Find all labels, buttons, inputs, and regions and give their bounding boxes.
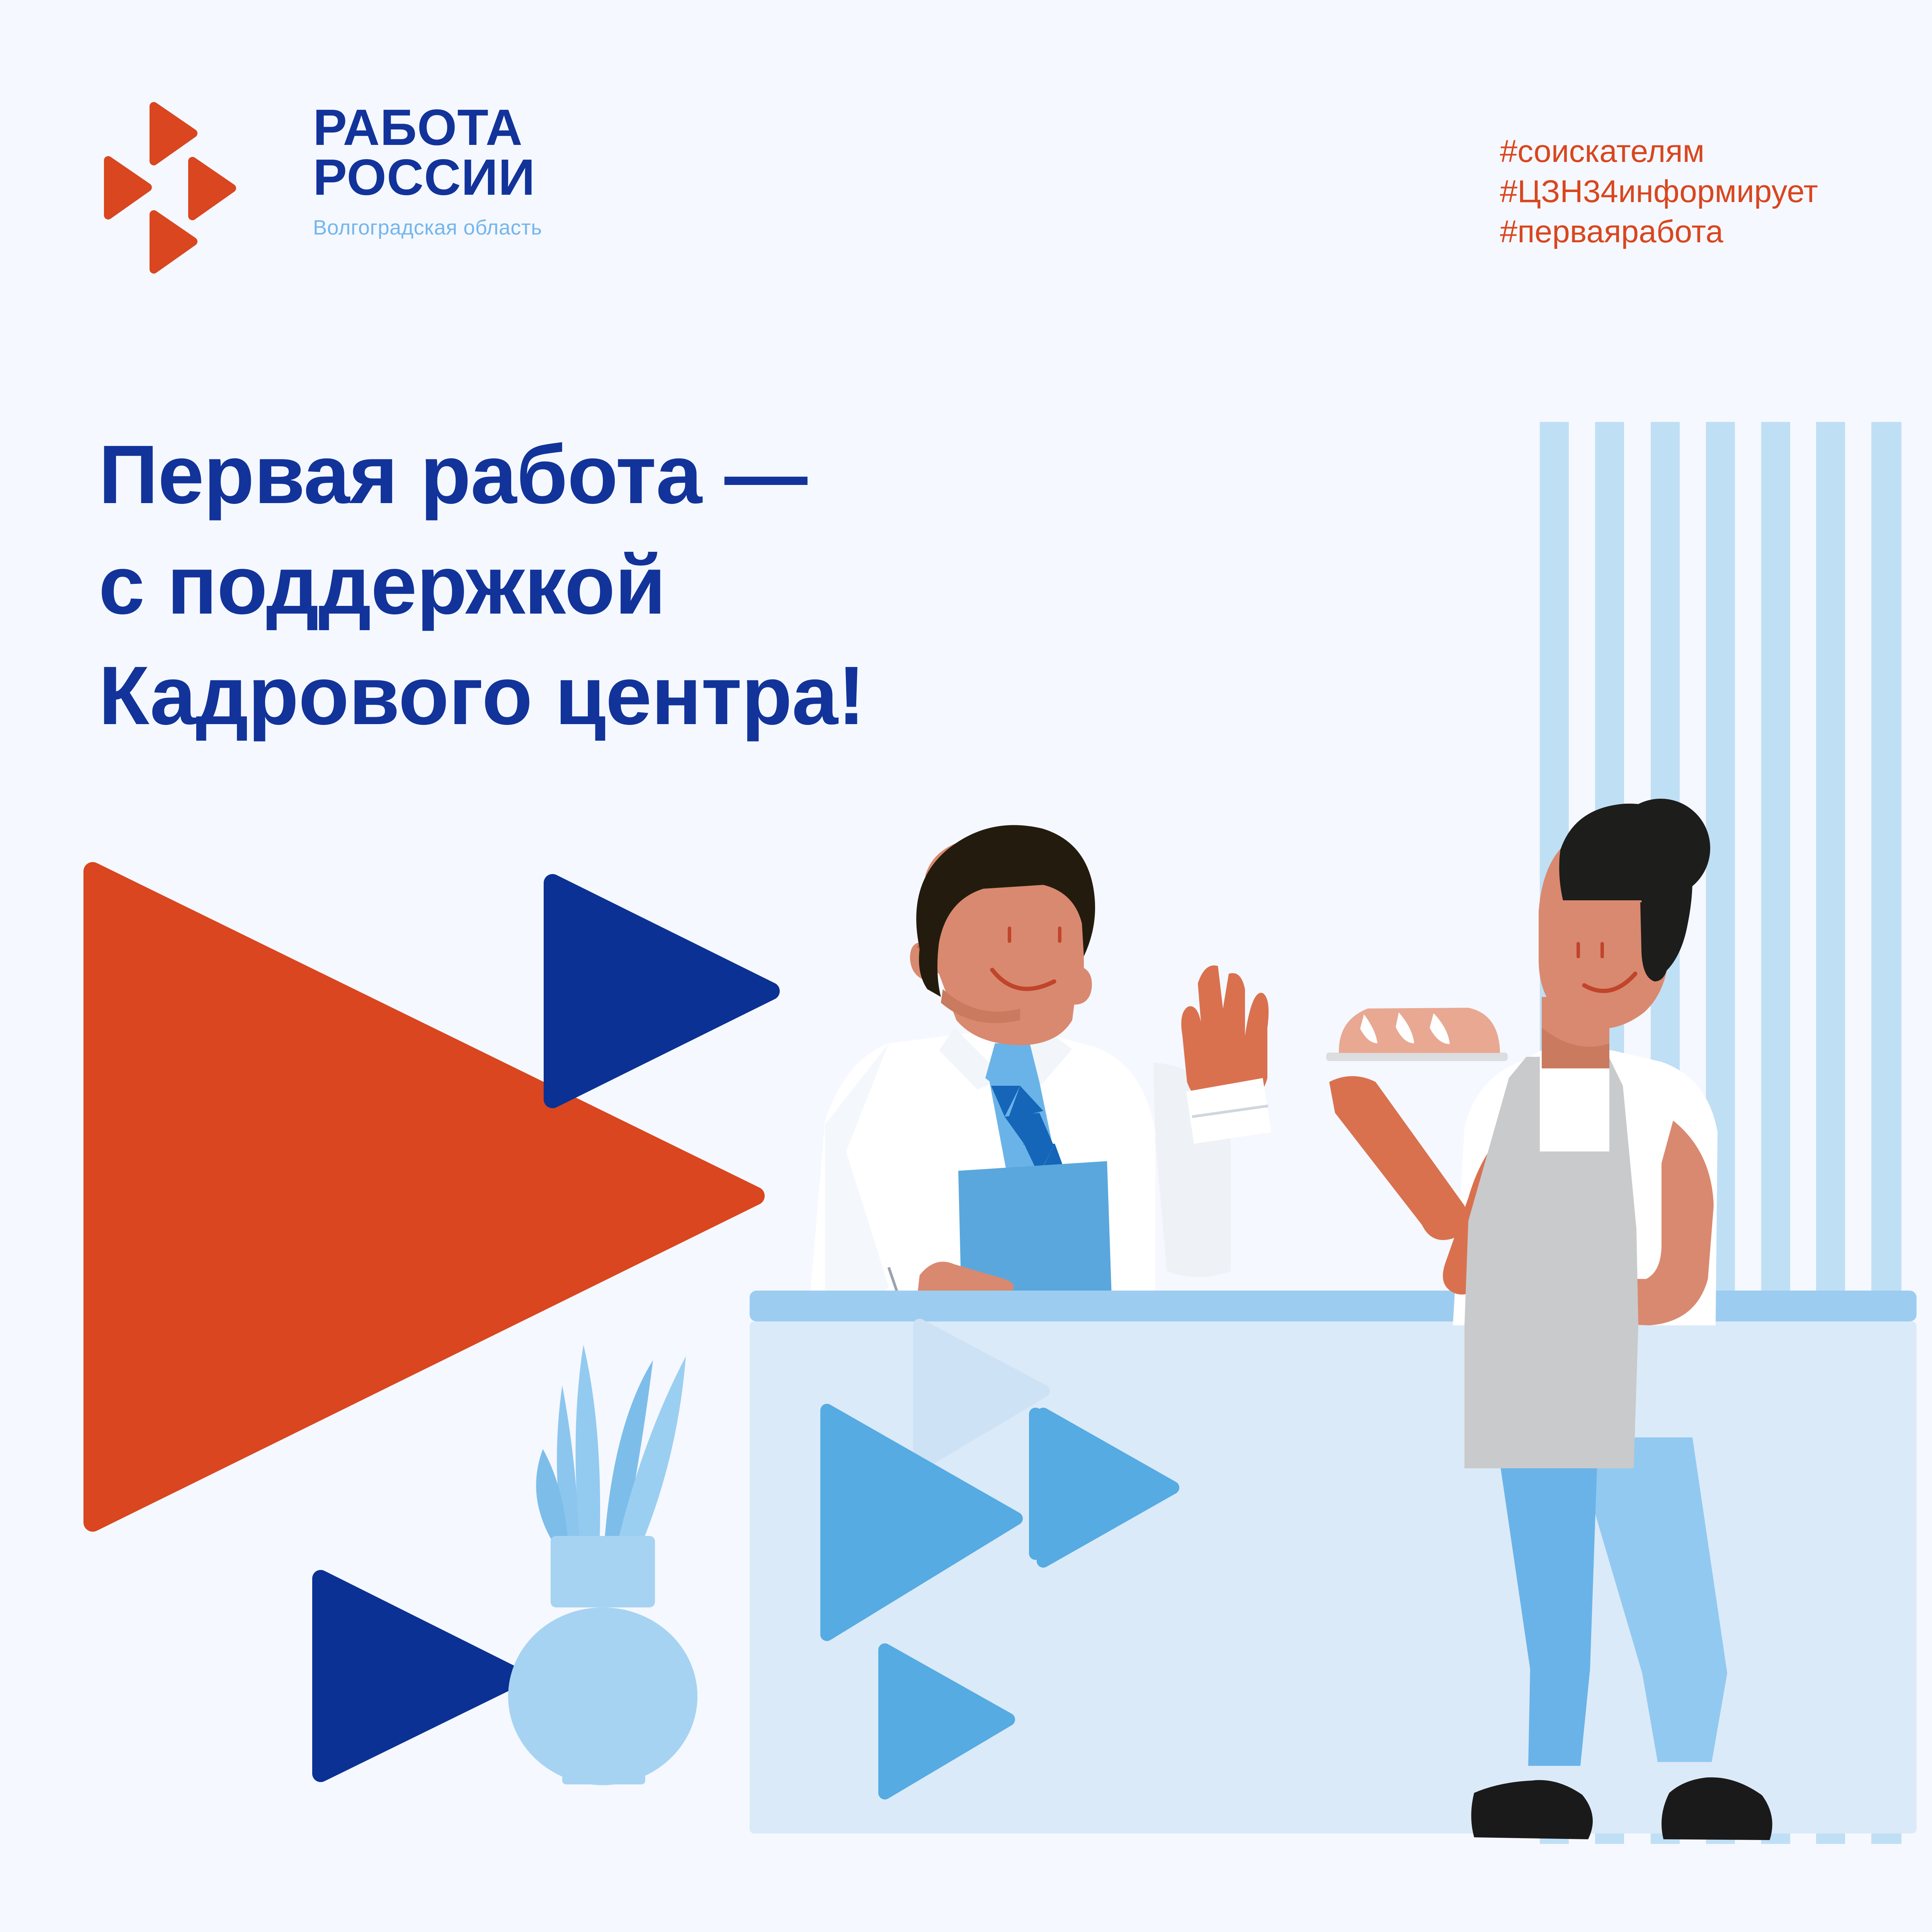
hashtag-item-3: #перваяработа xyxy=(1500,212,1818,252)
consultant-man xyxy=(808,825,1271,1334)
brand-logo: РАБОТА РОССИИ Волгоградская область xyxy=(97,95,599,296)
navy-triangle-bottom xyxy=(321,1578,518,1774)
logo-line-2: РОССИИ xyxy=(313,152,599,202)
headline-block: Первая работа — с поддержкой Кадрового ц… xyxy=(99,419,1142,751)
headline-line-1: Первая работа — xyxy=(99,419,1142,530)
headline-line-2: с поддержкой xyxy=(99,530,1142,640)
logo-wordmark: РАБОТА РОССИИ Волгоградская область xyxy=(313,102,599,240)
logo-line-1: РАБОТА xyxy=(313,102,599,152)
headline-line-3: Кадрового центра! xyxy=(99,640,1142,751)
poster-canvas: РАБОТА РОССИИ Волгоградская область #сои… xyxy=(0,0,1932,1932)
hashtag-group: #соискателям #ЦЗН34информирует #перваяра… xyxy=(1500,131,1818,252)
potted-plant xyxy=(508,1345,697,1785)
hashtag-item-2: #ЦЗН34информирует xyxy=(1500,172,1818,212)
rabota-rossii-logo-mark-icon xyxy=(97,95,251,276)
hashtag-item-1: #соискателям xyxy=(1500,131,1818,172)
navy-triangle-top xyxy=(553,883,771,1099)
reception-counter xyxy=(750,1291,1917,1833)
logo-region-label: Волгоградская область xyxy=(313,216,599,240)
